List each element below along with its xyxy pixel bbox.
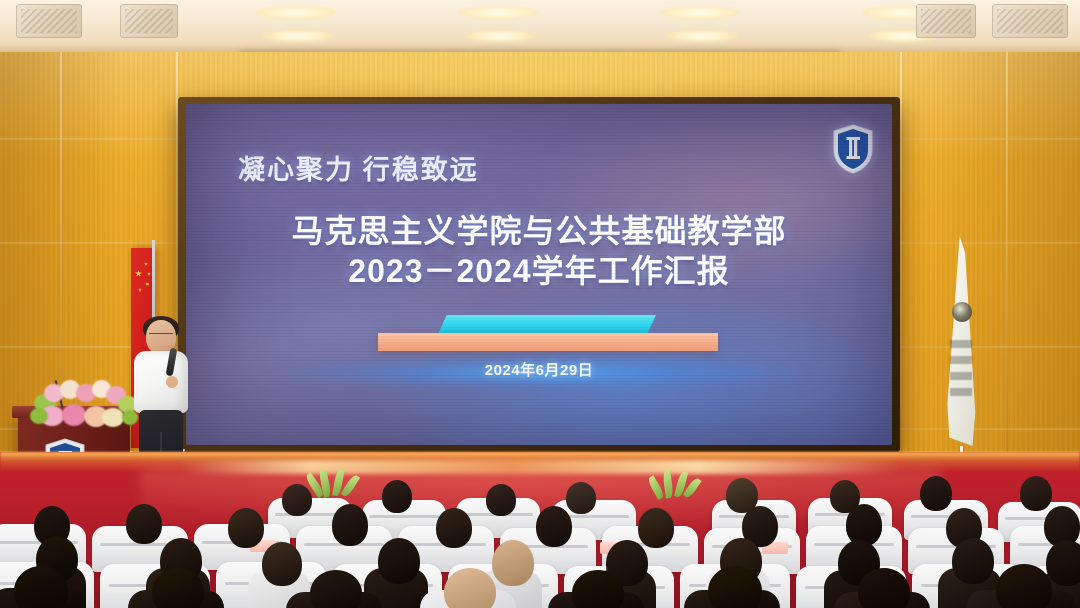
ceiling-light-3 bbox=[652, 0, 748, 56]
flag-star-small-3 bbox=[145, 282, 149, 286]
audience-head-r3-3 bbox=[262, 542, 302, 586]
flag-star-small-1 bbox=[144, 262, 148, 266]
audience-head-r1-3 bbox=[486, 484, 516, 516]
ceiling-light-2 bbox=[450, 0, 546, 56]
audience-head-r1-8 bbox=[1020, 476, 1052, 511]
presenter-glasses bbox=[149, 333, 173, 340]
banner-vertical-text bbox=[950, 340, 972, 400]
presentation-screen[interactable]: 凝心聚力 行稳致远 马克思主义学院与公共基础教学部 2023－2024学年工作汇… bbox=[186, 104, 892, 445]
audience-head-r2-4 bbox=[332, 504, 368, 546]
led-screen-frame: 凝心聚力 行稳致远 马克思主义学院与公共基础教学部 2023－2024学年工作汇… bbox=[178, 97, 900, 452]
audience-head-r3-10 bbox=[1046, 540, 1080, 586]
audience-head-r1-1 bbox=[282, 484, 312, 516]
audience-head-r4-1 bbox=[14, 566, 68, 608]
audience-head-r1-7 bbox=[920, 476, 952, 511]
audience-head-r3-5 bbox=[492, 540, 534, 586]
screen-vignette bbox=[186, 104, 892, 445]
ceiling-vent-right bbox=[916, 4, 976, 38]
ceiling-vent-left-2 bbox=[120, 4, 178, 38]
audience-head-r4-4 bbox=[444, 568, 496, 608]
audience-head-r3-9 bbox=[952, 538, 994, 584]
wall-seam-v3 bbox=[900, 52, 902, 472]
banner-emblem-icon bbox=[952, 302, 972, 322]
audience-head-r1-2 bbox=[382, 480, 412, 513]
audience-head-r4-6 bbox=[708, 566, 762, 608]
audience-head-r4-5 bbox=[572, 570, 624, 608]
audience-head-r4-8 bbox=[996, 564, 1052, 608]
audience-head-r4-3 bbox=[310, 570, 362, 608]
audience-head-r2-7 bbox=[638, 508, 674, 548]
audience-head-r2-5 bbox=[436, 508, 472, 548]
audience-head-r2-3 bbox=[228, 508, 264, 548]
flower-arrangement bbox=[30, 378, 138, 430]
audience-head-r1-4 bbox=[566, 482, 596, 514]
flag-star-small-4 bbox=[138, 288, 142, 292]
seated-audience bbox=[0, 470, 1080, 608]
audience-head-r2-2 bbox=[126, 504, 162, 544]
ceiling-vent-left bbox=[16, 4, 82, 38]
ceiling-vent-right-2 bbox=[992, 4, 1068, 38]
flag-star-small-2 bbox=[147, 272, 151, 276]
ceiling-light-1 bbox=[248, 0, 344, 56]
audience-head-r3-4 bbox=[378, 538, 420, 584]
presenter-hand bbox=[166, 376, 178, 388]
audience-head-r4-2 bbox=[152, 568, 204, 608]
flag-star-large bbox=[135, 270, 142, 277]
audience-head-r2-6 bbox=[536, 506, 572, 547]
audience-head-r4-7 bbox=[858, 568, 910, 608]
conference-hall-photo: 凝心聚力 行稳致远 马克思主义学院与公共基础教学部 2023－2024学年工作汇… bbox=[0, 0, 1080, 608]
